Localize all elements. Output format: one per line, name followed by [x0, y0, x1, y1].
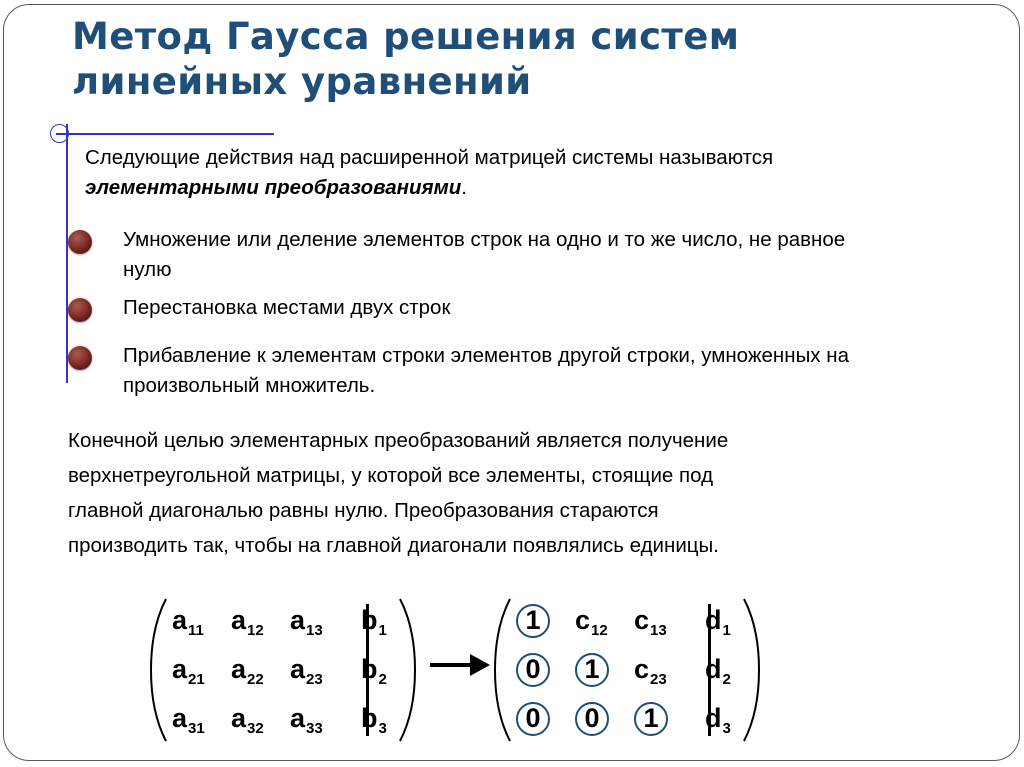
matrix-cell: d2 [689, 654, 744, 685]
page-title: Метод Гаусса решения систем линейных ура… [72, 14, 912, 104]
slide-canvas: Метод Гаусса решения систем линейных ура… [0, 0, 1024, 767]
augmented-separator-bar [366, 604, 369, 736]
matrix-cell: b2 [345, 654, 400, 685]
matrix-cell: a12 [227, 605, 286, 636]
matrix-cell: d3 [689, 703, 744, 734]
matrix-cell-value: 1 [516, 604, 550, 638]
closing-paragraph: Конечной целью элементарных преобразован… [68, 423, 758, 563]
matrix-cell-subscript: 13 [306, 622, 323, 639]
matrix-cell: a21 [168, 654, 227, 685]
matrix-cell-circled: 0 [571, 702, 630, 736]
matrix-cell-circled: 0 [512, 653, 571, 687]
matrix-cell-subscript: 12 [591, 622, 608, 639]
matrix-cell-circled: 1 [571, 653, 630, 687]
matrix-cell-value: 1 [575, 653, 609, 687]
matrix-cell-subscript: 3 [378, 720, 386, 737]
intro-paragraph-part2: . [461, 176, 467, 199]
matrix-cell-value: c23 [634, 654, 666, 684]
matrix-cell-value: a32 [231, 703, 263, 733]
matrix-cell-subscript: 13 [650, 622, 667, 639]
matrix-cell-value: 0 [575, 702, 609, 736]
matrix-cell-value: 0 [516, 653, 550, 687]
matrix-cell-circled: 1 [512, 604, 571, 638]
matrix-cell-value: b3 [361, 703, 386, 733]
page-title-line-1: Метод Гаусса решения систем [72, 14, 912, 59]
matrix-transformation-figure: a11a12a13b1a21a22a23b2a31a32a33b3 1c12c1… [140, 596, 840, 746]
matrix-cell: c13 [630, 605, 689, 636]
matrix-cell-subscript: 12 [247, 622, 264, 639]
left-parenthesis-icon [148, 596, 170, 744]
matrix-cell-subscript: 23 [306, 671, 323, 688]
matrix-cell: b3 [345, 703, 400, 734]
list-item-label: Прибавление к элементам строки элементов… [123, 341, 863, 401]
intro-paragraph: Следующие действия над расширенной матри… [85, 143, 805, 203]
intro-paragraph-part1: Следующие действия над расширенной матри… [85, 146, 779, 169]
decorative-vertical-rule [66, 124, 68, 383]
matrix-cell-subscript: 11 [188, 622, 204, 639]
augmented-separator-bar [708, 604, 711, 736]
matrix-cell-subscript: 31 [188, 720, 205, 737]
matrix-cell-value: a23 [290, 654, 322, 684]
matrix-cell: a11 [168, 605, 227, 636]
bullet-dot-icon [68, 346, 92, 370]
left-parenthesis-icon [492, 596, 514, 744]
matrix-cell-subscript: 2 [378, 671, 386, 688]
matrix-cell-subscript: 21 [188, 671, 205, 688]
intro-paragraph-emphasis: элементарными преобразованиями [85, 176, 461, 199]
matrix-cell-value: 1 [634, 702, 668, 736]
matrix-cell: a32 [227, 703, 286, 734]
bullet-dot-icon [68, 298, 92, 322]
matrix-cell-value: 0 [516, 702, 550, 736]
matrix-cell-value: a11 [172, 605, 203, 635]
matrix-cell-value: a33 [290, 703, 322, 733]
matrix-cell: a23 [286, 654, 345, 685]
matrix-cell: a31 [168, 703, 227, 734]
matrix-cell: a13 [286, 605, 345, 636]
matrix-cell-circled: 0 [512, 702, 571, 736]
matrix-cell-value: a12 [231, 605, 263, 635]
matrix-cell: c12 [571, 605, 630, 636]
matrix-cell-value: c12 [575, 605, 607, 635]
matrix-cell-value: b1 [361, 605, 386, 635]
list-item-label: Перестановка местами двух строк [123, 293, 863, 323]
matrix-cell-value: a21 [172, 654, 204, 684]
matrix-cell-value: a22 [231, 654, 263, 684]
matrix-cell-subscript: 23 [650, 671, 667, 688]
matrix-initial: a11a12a13b1a21a22a23b2a31a32a33b3 [148, 596, 418, 744]
matrix-cell-subscript: 1 [378, 622, 386, 639]
matrix-cell: b1 [345, 605, 400, 636]
matrix-cell: a22 [227, 654, 286, 685]
list-item-label: Умножение или деление элементов строк на… [123, 225, 863, 285]
matrix-cell-circled: 1 [630, 702, 689, 736]
matrix-cell-subscript: 1 [722, 622, 730, 639]
matrix-cell-subscript: 22 [247, 671, 264, 688]
matrix-result: 1c12c13d101c23d2001d3 [492, 596, 762, 744]
bullet-dot-icon [68, 230, 92, 254]
matrix-cell-value: a31 [172, 703, 204, 733]
matrix-cell: d1 [689, 605, 744, 636]
matrix-cell: c23 [630, 654, 689, 685]
matrix-cell-value: c13 [634, 605, 666, 635]
matrix-cell: a33 [286, 703, 345, 734]
matrix-cell-subscript: 33 [306, 720, 323, 737]
matrix-cell-subscript: 32 [247, 720, 264, 737]
matrix-cell-value: a13 [290, 605, 322, 635]
matrix-cell-value: b2 [361, 654, 386, 684]
decorative-horizontal-rule [56, 133, 274, 135]
transformation-arrow-icon [428, 650, 492, 680]
page-title-line-2: линейных уравнений [72, 59, 912, 104]
matrix-cell-subscript: 2 [722, 671, 730, 688]
matrix-cell-subscript: 3 [722, 720, 730, 737]
